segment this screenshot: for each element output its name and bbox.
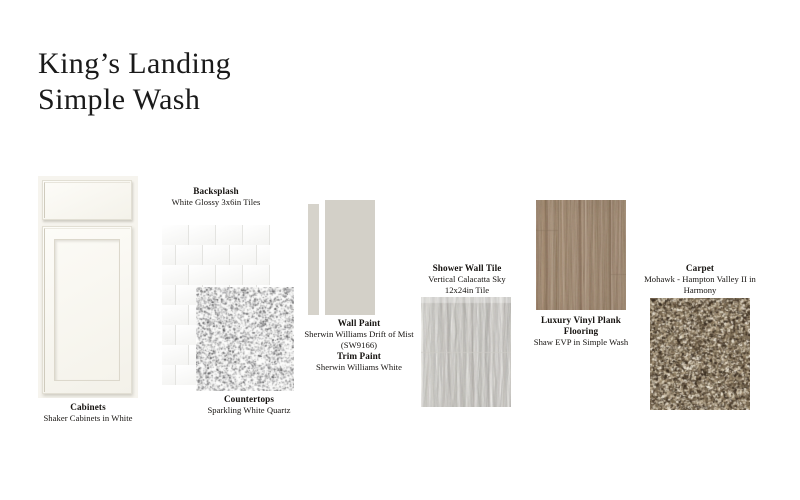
swatch-carpet[interactable] (650, 298, 750, 410)
caption-countertops: Countertops Sparkling White Quartz (190, 394, 308, 416)
label-trim-paint-title: Trim Paint (303, 351, 415, 362)
label-lvp-title: Luxury Vinyl Plank Flooring (530, 315, 632, 337)
label-shower-tile-title: Shower Wall Tile (420, 263, 514, 274)
page-title: King’s Landing Simple Wash (38, 46, 231, 118)
swatch-shower-wall-tile[interactable] (421, 297, 511, 407)
label-countertops-title: Countertops (190, 394, 308, 405)
label-trim-paint-desc: Sherwin Williams White (303, 362, 415, 373)
swatch-luxury-vinyl-plank[interactable] (536, 200, 626, 310)
swatch-countertops[interactable] (196, 287, 294, 391)
swatch-wall-paint[interactable] (325, 200, 375, 315)
label-wall-paint-title: Wall Paint (303, 318, 415, 329)
cabinet-drawer-front (42, 180, 132, 220)
label-carpet-desc: Mohawk - Hampton Valley II in Harmony (642, 274, 758, 295)
label-shower-tile-desc: Vertical Calacatta Sky 12x24in Tile (420, 274, 514, 295)
tile-row (162, 245, 270, 265)
label-carpet-title: Carpet (642, 263, 758, 274)
label-backsplash-desc: White Glossy 3x6in Tiles (160, 197, 272, 208)
caption-cabinets: Cabinets Shaker Cabinets in White (18, 402, 158, 424)
label-cabinets-desc: Shaker Cabinets in White (18, 413, 158, 424)
carpet-texture (650, 298, 750, 410)
mood-board: King’s Landing Simple Wash Cabinets Shak… (0, 0, 800, 500)
caption-luxury-vinyl-plank: Luxury Vinyl Plank Flooring Shaw EVP in … (530, 315, 632, 348)
cabinet-recessed-panel (54, 239, 120, 381)
cabinet-door (42, 226, 132, 394)
marble-texture (421, 297, 511, 407)
swatch-cabinets[interactable] (38, 176, 138, 398)
caption-backsplash: Backsplash White Glossy 3x6in Tiles (160, 186, 272, 208)
label-cabinets-title: Cabinets (18, 402, 158, 413)
label-backsplash-title: Backsplash (160, 186, 272, 197)
tile-row (162, 265, 270, 285)
caption-paint: Wall Paint Sherwin Williams Drift of Mis… (303, 318, 415, 373)
caption-carpet: Carpet Mohawk - Hampton Valley II in Har… (642, 263, 758, 295)
label-lvp-desc: Shaw EVP in Simple Wash (530, 337, 632, 348)
caption-shower-wall-tile: Shower Wall Tile Vertical Calacatta Sky … (420, 263, 514, 295)
wood-grain-texture (536, 200, 626, 310)
swatch-trim-paint[interactable] (308, 204, 319, 315)
tile-row (162, 225, 270, 245)
quartz-texture (196, 287, 294, 391)
label-wall-paint-desc: Sherwin Williams Drift of Mist (SW9166) (303, 329, 415, 350)
label-countertops-desc: Sparkling White Quartz (190, 405, 308, 416)
